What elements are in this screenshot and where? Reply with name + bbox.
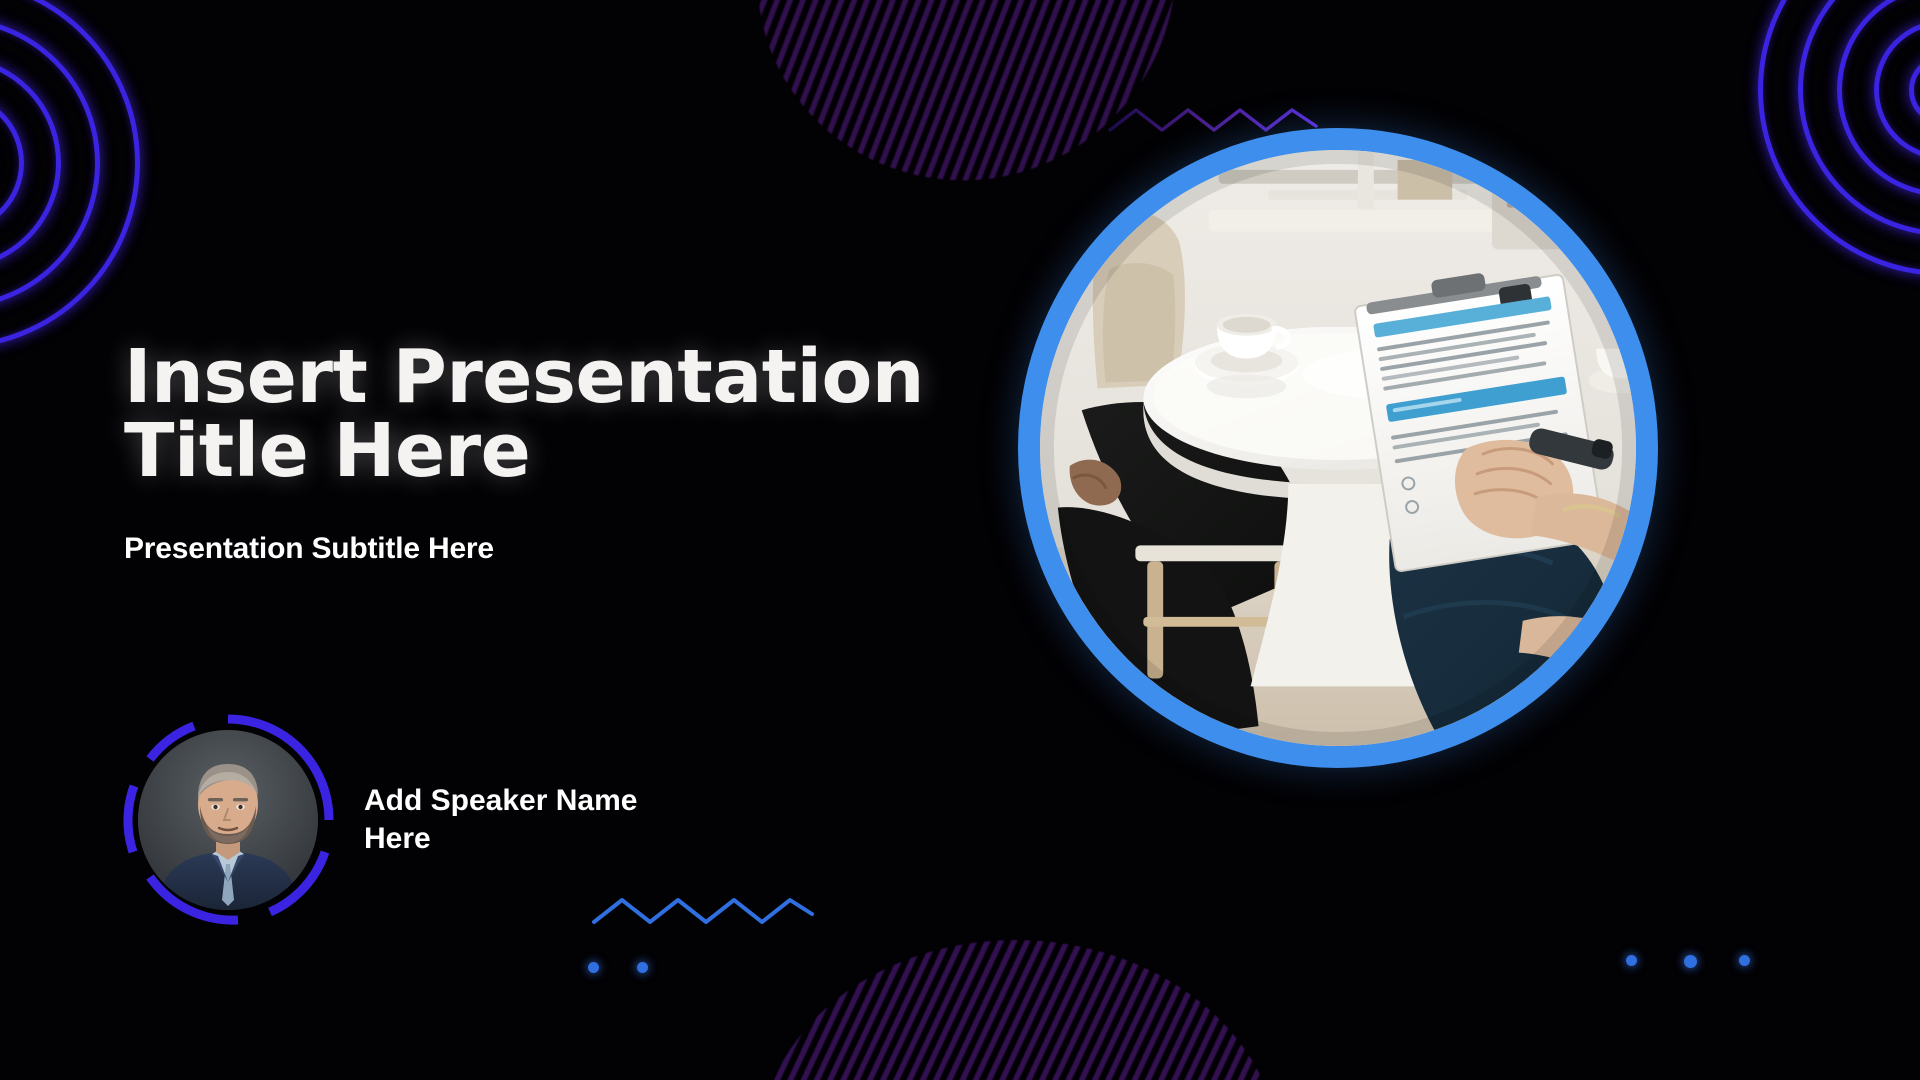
title-block: Insert Presentation Title Here Presentat…	[124, 340, 944, 566]
avatar[interactable]	[120, 712, 336, 928]
accent-dot	[1739, 955, 1750, 966]
avatar-photo	[138, 730, 318, 910]
speaker-block: Add Speaker Name Here	[120, 712, 654, 928]
page-title[interactable]: Insert Presentation Title Here	[124, 340, 924, 488]
slide-subtitle[interactable]: Presentation Subtitle Here	[124, 532, 944, 566]
accent-dot	[1684, 955, 1697, 968]
accent-dot	[588, 962, 599, 973]
accent-dot	[637, 962, 648, 973]
hero-photo-image	[1040, 150, 1636, 746]
hero-photo[interactable]	[1018, 128, 1658, 768]
speaker-name[interactable]: Add Speaker Name Here	[364, 782, 654, 859]
striped-blob-icon-top	[749, 0, 1191, 194]
striped-blob-icon-bottom	[760, 940, 1280, 1080]
accent-dot	[1626, 955, 1637, 966]
presentation-slide: Insert Presentation Title Here Presentat…	[0, 0, 1920, 1080]
